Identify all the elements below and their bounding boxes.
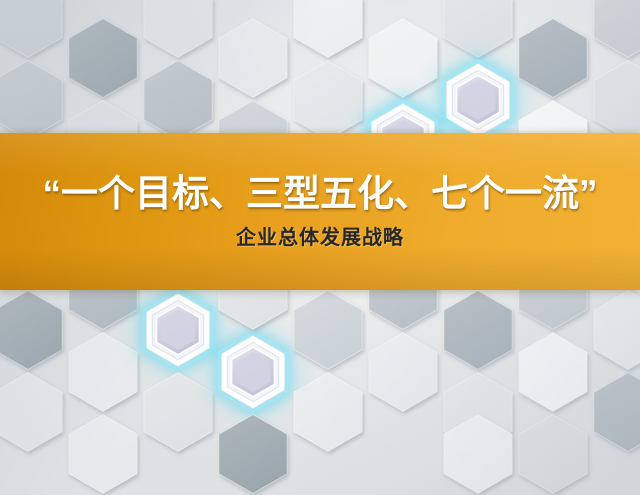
hexagon-tile xyxy=(0,61,62,140)
hexagon-tile xyxy=(444,291,512,370)
hexagon-tile xyxy=(519,333,587,412)
hexagon-tile xyxy=(294,291,362,370)
hexagon-tile xyxy=(443,59,514,141)
hexagon-tile xyxy=(0,373,62,452)
hexagon-tile xyxy=(594,61,640,140)
hexagon-tile xyxy=(219,415,287,494)
hexagon-tile xyxy=(144,61,212,140)
hexagon-tile xyxy=(144,0,212,57)
hexagon-tile xyxy=(594,0,640,57)
hexagon-tile xyxy=(69,415,137,494)
hexagon-tile xyxy=(294,0,362,57)
hexagon-tile xyxy=(0,291,62,370)
hexagon-tile xyxy=(294,373,362,452)
hexagon-tile xyxy=(444,0,512,57)
hexagon-tile xyxy=(594,373,640,452)
hexagon-tile xyxy=(594,291,640,370)
hexagon-tile xyxy=(144,373,212,452)
hexagon-tile xyxy=(69,19,137,98)
hexagon-tile xyxy=(519,415,587,494)
title-slide: “一个目标、三型五化、七个一流” 企业总体发展战略 xyxy=(0,0,640,495)
hexagon-tile xyxy=(219,19,287,98)
slide-title: “一个目标、三型五化、七个一流” xyxy=(43,173,598,214)
hexagon-tile xyxy=(218,331,289,413)
hexagon-tile xyxy=(369,19,437,98)
hexagon-tile xyxy=(0,0,62,57)
hexagon-tile xyxy=(69,333,137,412)
hexagon-tile xyxy=(294,61,362,140)
slide-subtitle: 企业总体发展战略 xyxy=(236,226,404,250)
hexagon-tile xyxy=(369,333,437,412)
title-banner: “一个目标、三型五化、七个一流” 企业总体发展战略 xyxy=(0,133,640,290)
hexagon-tile xyxy=(519,19,587,98)
hexagon-tile xyxy=(143,289,214,371)
